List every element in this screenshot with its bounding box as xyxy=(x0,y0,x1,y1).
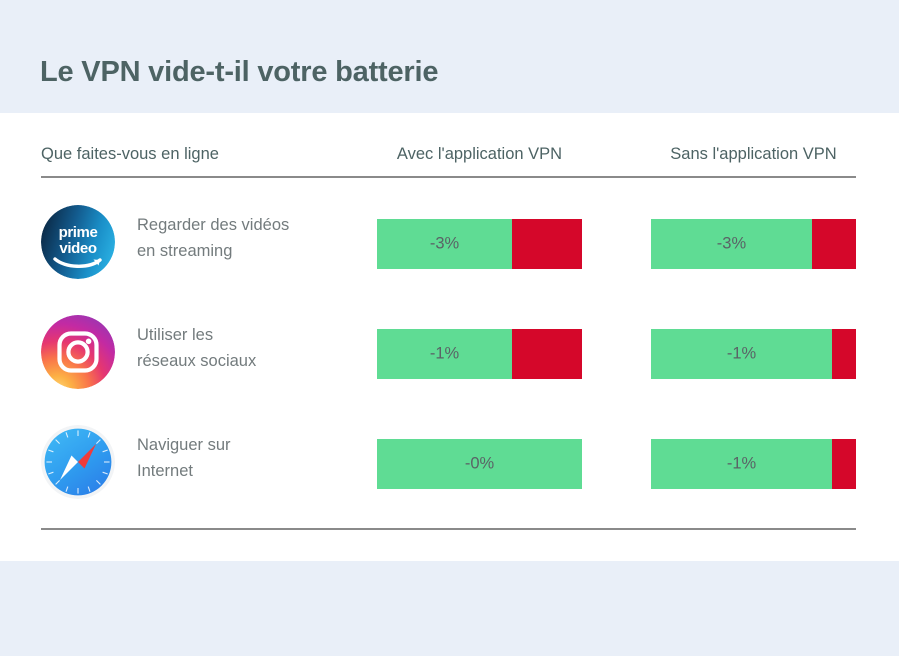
page-title: Le VPN vide-t-il votre batterie xyxy=(40,56,438,89)
table-bottom-divider xyxy=(41,528,856,530)
table-panel: Que faites-vous en ligne Avec l'applicat… xyxy=(0,113,899,561)
bar-with-vpn: -1% xyxy=(377,329,582,379)
table-row: Naviguer sur Internet -0% -1% xyxy=(0,425,899,499)
bar-without-vpn: -1% xyxy=(651,329,856,379)
safari-icon xyxy=(41,425,115,499)
row-label: Utiliser les réseaux sociaux xyxy=(137,323,256,374)
column-header-activity: Que faites-vous en ligne xyxy=(41,145,219,164)
bar-value-label: -0% xyxy=(377,455,582,474)
bar-green-segment: -3% xyxy=(377,219,512,269)
table-header-row: Que faites-vous en ligne Avec l'applicat… xyxy=(0,145,899,175)
header-divider xyxy=(41,176,856,178)
row-label: Naviguer sur Internet xyxy=(137,433,231,484)
bar-value-label: -1% xyxy=(377,345,512,364)
bar-red-segment xyxy=(812,219,856,269)
bar-green-segment: -0% xyxy=(377,439,582,489)
bar-with-vpn: -0% xyxy=(377,439,582,489)
bar-value-label: -1% xyxy=(651,345,832,364)
bar-green-segment: -1% xyxy=(377,329,512,379)
bar-value-label: -3% xyxy=(651,235,812,254)
table-row: Utiliser les réseaux sociaux -1% -1% xyxy=(0,315,899,389)
footer-band: VPN Unlimited® part of MonoDefense xyxy=(0,561,899,656)
svg-text:prime: prime xyxy=(59,224,98,241)
bar-green-segment: -1% xyxy=(651,329,832,379)
bar-red-segment xyxy=(512,219,582,269)
bar-red-segment xyxy=(832,329,856,379)
bar-green-segment: -3% xyxy=(651,219,812,269)
bar-value-label: -1% xyxy=(651,455,832,474)
bar-red-segment xyxy=(832,439,856,489)
prime-video-icon: prime video xyxy=(41,205,115,279)
bar-red-segment xyxy=(512,329,582,379)
bar-without-vpn: -3% xyxy=(651,219,856,269)
table-row: prime video Regarder des vidéos en strea… xyxy=(0,205,899,279)
instagram-icon xyxy=(41,315,115,389)
svg-text:video: video xyxy=(59,240,96,257)
column-header-without-vpn: Sans l'application VPN xyxy=(651,145,856,164)
column-header-with-vpn: Avec l'application VPN xyxy=(377,145,582,164)
header-band: Le VPN vide-t-il votre batterie xyxy=(0,0,899,113)
bar-value-label: -3% xyxy=(377,235,512,254)
bar-green-segment: -1% xyxy=(651,439,832,489)
infographic-root: Le VPN vide-t-il votre batterie Que fait… xyxy=(0,0,899,656)
bar-with-vpn: -3% xyxy=(377,219,582,269)
row-label: Regarder des vidéos en streaming xyxy=(137,213,289,264)
bar-without-vpn: -1% xyxy=(651,439,856,489)
